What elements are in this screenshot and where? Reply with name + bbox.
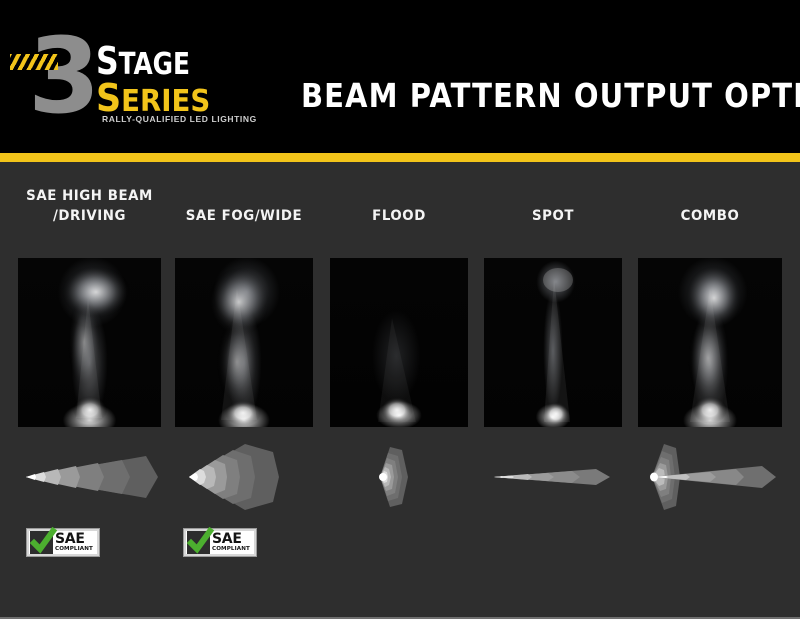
logo-stage-rest: TAGE [119,47,190,82]
beam-diagram-flood [330,442,468,512]
beam-diagram-wide [175,442,313,512]
sae-compliant-badge: SAE COMPLIANT [26,528,100,557]
column-label: COMBO [644,206,776,226]
beam-photo [484,258,622,427]
beam-photo-highlights [18,258,161,427]
beam-diagram-combo [638,442,782,512]
column-label-line2: /DRIVING [53,208,126,224]
beam-photo [638,258,782,427]
beam-diagram-driving [18,442,161,512]
beam-diagram-svg [330,442,468,512]
checkmark-glyph [28,527,58,557]
checkmark-icon [187,531,210,554]
beam-photo-highlights [175,258,313,427]
sae-badge-title: SAE [55,532,93,546]
logo-tagline: RALLY-QUALIFIED LED LIGHTING [102,114,257,124]
column-label: FLOOD [336,206,463,226]
beam-diagram-spot [484,442,622,512]
brand-logo: 3 STAGE SERIES RALLY-QUALIFIED LED LIGHT… [28,26,260,130]
beam-diagram-svg [638,442,782,512]
sae-badge-text: SAE COMPLIANT [55,532,93,553]
beam-column-flood: FLOOD [330,162,468,617]
beam-photo [175,258,313,427]
column-label-line1: COMBO [681,208,740,224]
beam-column-wide: SAE FOG/WIDE [175,162,313,617]
logo-numeral: 3 [28,26,96,126]
sae-badge-inner: SAE COMPLIANT [29,531,97,554]
sae-badge-title: SAE [212,532,250,546]
checkmark-glyph [185,527,215,557]
beam-photo [18,258,161,427]
checkmark-icon [30,531,53,554]
logo-stripes-icon [10,54,58,70]
sae-badge-subtitle: COMPLIANT [212,547,250,553]
beam-photo-highlights [484,258,622,427]
sae-compliant-badge: SAE COMPLIANT [183,528,257,557]
logo-word-series: SERIES [96,82,252,118]
beam-column-combo: COMBO [638,162,782,617]
column-label-line1: SAE HIGH BEAM [26,188,153,204]
content-area: SAE HIGH BEAM /DRIVING [0,162,800,617]
column-label-line1: FLOOD [372,208,426,224]
column-label-line1: SPOT [532,208,574,224]
beam-photo-highlights [638,258,782,427]
sae-badge-text: SAE COMPLIANT [212,532,250,553]
sae-badge-inner: SAE COMPLIANT [186,531,254,554]
beam-diagram-svg [18,442,161,512]
page-title: BEAM PATTERN OUTPUT OPTIONS [301,76,755,115]
column-label: SAE HIGH BEAM /DRIVING [24,186,156,226]
logo-word-stage: STAGE [96,46,252,80]
beam-column-spot: SPOT [484,162,622,617]
beam-pattern-infographic: 3 STAGE SERIES RALLY-QUALIFIED LED LIGHT… [0,0,800,622]
header-bar: 3 STAGE SERIES RALLY-QUALIFIED LED LIGHT… [0,0,800,153]
footer-divider [0,617,800,619]
accent-divider [0,153,800,162]
beam-photo-highlights [330,258,468,427]
column-label-line1: SAE FOG/WIDE [186,208,302,224]
sae-badge-subtitle: COMPLIANT [55,547,93,553]
beam-column-driving: SAE HIGH BEAM /DRIVING [18,162,161,617]
column-label: SPOT [490,206,617,226]
column-label: SAE FOG/WIDE [181,206,308,226]
beam-photo [330,258,468,427]
beam-columns: SAE HIGH BEAM /DRIVING [0,162,800,617]
logo-wordmark: STAGE SERIES [96,46,266,118]
beam-diagram-svg [175,442,313,512]
beam-diagram-svg [484,442,622,512]
